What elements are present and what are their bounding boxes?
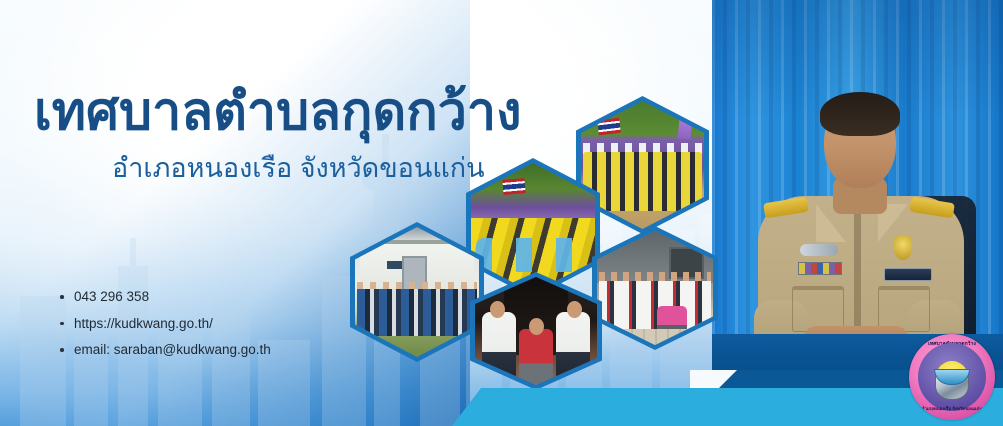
municipality-banner: เทศบาลตำบลกุดกว้าง อำเภอหนองเรือ จังหวัด… [0, 0, 1003, 426]
wing-badge-icon [800, 244, 838, 256]
contact-item-phone: 043 296 358 [58, 290, 271, 304]
medal-icon [894, 236, 912, 260]
contact-item-email[interactable]: email: saraban@kudkwang.go.th [58, 343, 271, 357]
thai-flag-icon [597, 118, 621, 136]
contact-email-text[interactable]: email: saraban@kudkwang.go.th [74, 342, 271, 357]
page-subtitle: อำเภอหนองเรือ จังหวัดขอนแก่น [112, 155, 485, 182]
contact-phone-text: 043 296 358 [74, 289, 149, 304]
ribbon-bar-icon [798, 262, 842, 275]
wheelchair-icon [519, 329, 553, 385]
seal-text-bottom: อำเภอหนองเรือ จังหวัดขอนแก่น [909, 407, 995, 411]
contact-list: 043 296 358 https://kudkwang.go.th/ emai… [58, 290, 271, 370]
contact-website-text[interactable]: https://kudkwang.go.th/ [74, 316, 213, 331]
contact-item-website[interactable]: https://kudkwang.go.th/ [58, 317, 271, 331]
municipal-seal: เทศบาลตำบลกุดกว้าง อำเภอหนองเรือ จังหวัด… [909, 334, 995, 420]
thai-flag-icon [503, 178, 526, 195]
page-title: เทศบาลตำบลกุดกว้าง [34, 86, 522, 138]
name-tag [884, 268, 932, 281]
